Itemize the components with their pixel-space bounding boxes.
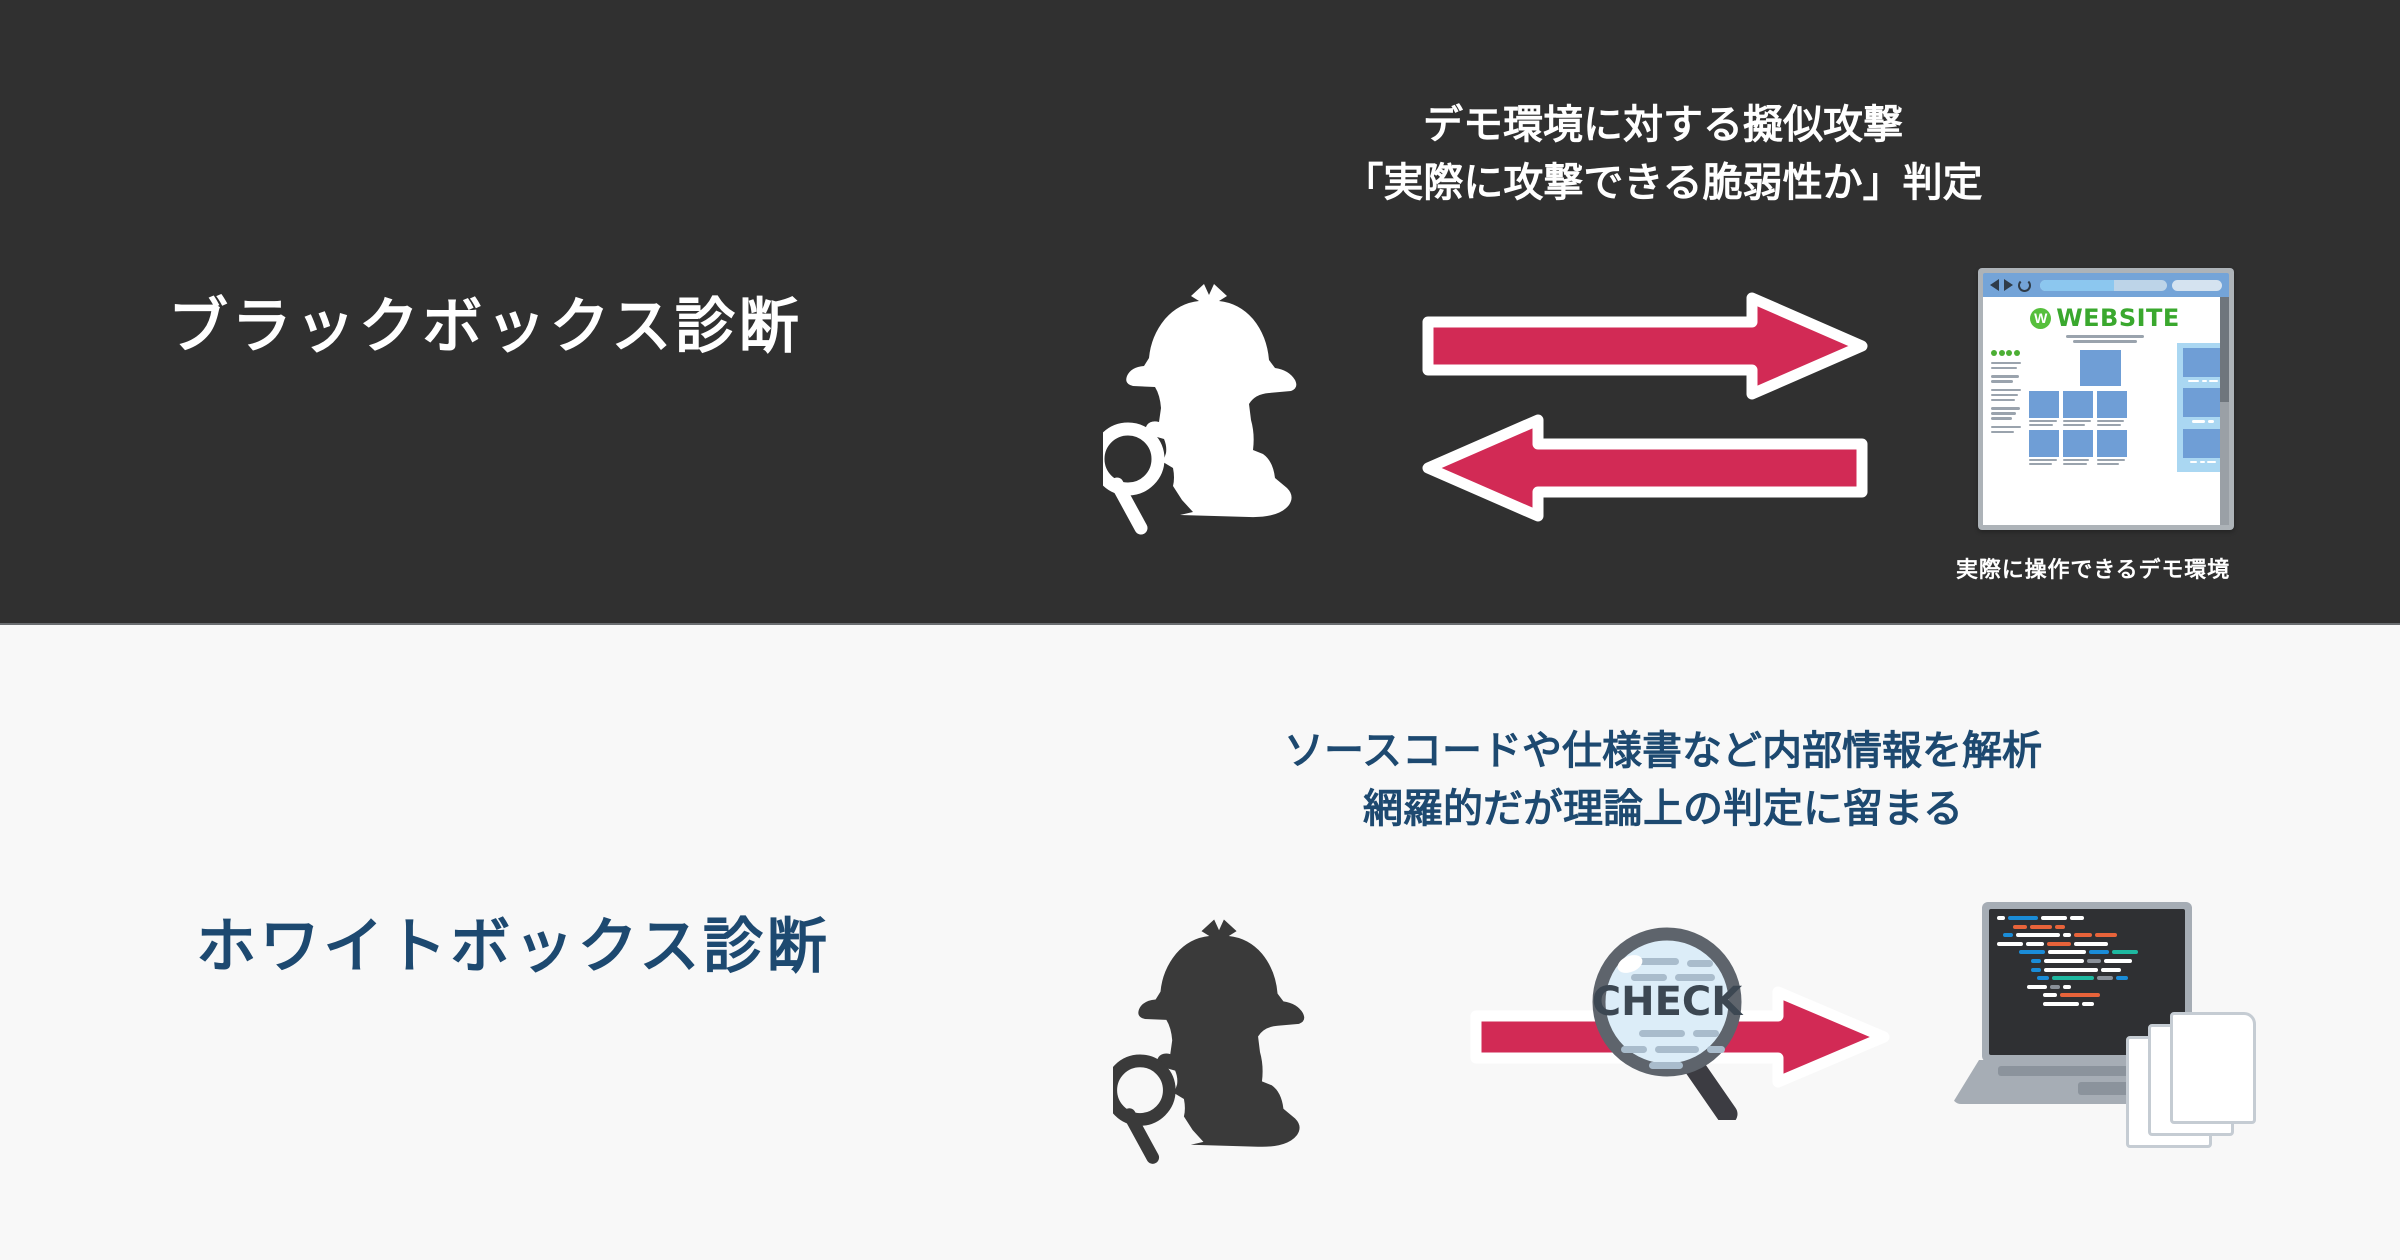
whitebox-caption: ソースコードや仕様書など内部情報を解析 網羅的だが理論上の判定に留まる [1284, 722, 2042, 839]
comparison-diagram: ブラックボックス診断 デモ環境に対する擬似攻撃 「実際に攻撃できる脆弱性か」判定 [0, 0, 2400, 1260]
detective-silhouette-icon [1103, 262, 1318, 547]
blackbox-caption: デモ環境に対する擬似攻撃 「実際に攻撃できる脆弱性か」判定 [1343, 96, 1982, 213]
blackbox-caption-line-2: 「実際に攻撃できる脆弱性か」判定 [1343, 154, 1982, 212]
browser-viewport: W WEBSITE [1983, 297, 2229, 525]
tile-item[interactable] [2097, 430, 2127, 465]
page-columns [1991, 350, 2219, 466]
demo-environment-label: 実際に操作できるデモ環境 [1956, 552, 2230, 584]
tile-item[interactable] [2063, 430, 2093, 465]
page-main-column [2029, 350, 2171, 466]
tile-item[interactable] [2029, 391, 2059, 426]
sidebar-card[interactable] [2182, 429, 2224, 464]
address-bar[interactable] [2040, 280, 2167, 291]
tile-item[interactable] [2063, 391, 2093, 426]
laptop-trackpad [2078, 1082, 2130, 1095]
browser-frame: W WEBSITE [1978, 268, 2234, 530]
magnifier-check-label: CHECK [1592, 979, 1745, 1025]
vertical-scrollbar[interactable] [2220, 297, 2229, 525]
sidebar-card[interactable] [2182, 388, 2224, 423]
site-logo-badge: W [2030, 308, 2051, 329]
browser-toolbar [1983, 273, 2229, 297]
section-heading-dots [1991, 350, 2023, 356]
whitebox-title: ホワイトボックス診断 [196, 898, 830, 985]
tile-grid [2029, 391, 2171, 466]
tile-item[interactable] [2097, 391, 2127, 426]
arrow-right-icon [1422, 290, 1868, 402]
page-content: W WEBSITE [1983, 297, 2229, 525]
hero-image-placeholder [2080, 350, 2121, 386]
blackbox-title: ブラックボックス診断 [168, 278, 802, 365]
page-left-column [1991, 350, 2023, 466]
arrow-left-icon [1422, 412, 1868, 524]
tile-item[interactable] [2029, 430, 2059, 465]
site-tagline-lines [1991, 335, 2219, 343]
document-stack-icon [2170, 1012, 2256, 1124]
laptop-source-code-icon [1940, 890, 2240, 1165]
sidebar-card[interactable] [2182, 348, 2224, 383]
whitebox-caption-line-2: 網羅的だが理論上の判定に留まる [1284, 780, 2042, 838]
blackbox-caption-line-1: デモ環境に対する擬似攻撃 [1343, 96, 1982, 154]
site-brand: W WEBSITE [1991, 304, 2219, 332]
site-brand-word: WEBSITE [2056, 304, 2180, 332]
nav-reload-icon[interactable] [2018, 279, 2031, 292]
website-browser-window-icon: W WEBSITE [1978, 268, 2234, 530]
magnifying-glass-check-icon: CHECK [1587, 920, 1772, 1120]
whitebox-caption-line-1: ソースコードや仕様書など内部情報を解析 [1284, 722, 2042, 780]
nav-forward-icon[interactable] [2004, 279, 2013, 291]
search-bar[interactable] [2172, 280, 2222, 291]
nav-back-icon[interactable] [1990, 279, 1999, 291]
detective-silhouette-icon [1113, 898, 1328, 1176]
